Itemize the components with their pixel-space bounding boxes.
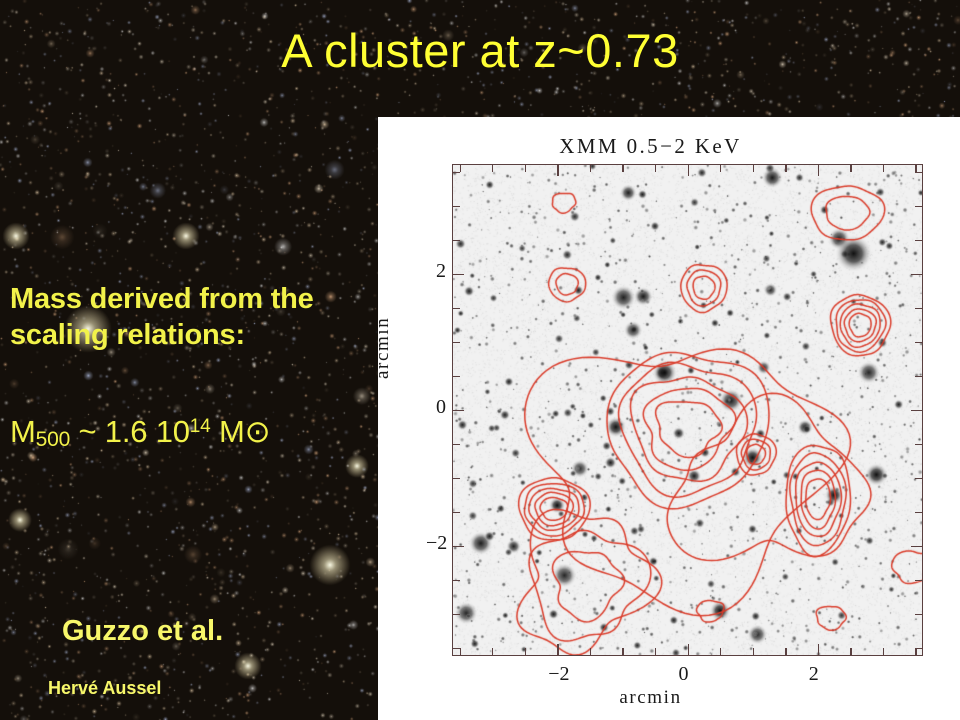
x-axis-tick-label: 0 — [679, 663, 689, 686]
x-axis-tick-top — [785, 165, 786, 172]
y-axis-tick — [453, 648, 460, 649]
x-axis-tick — [622, 648, 623, 655]
x-axis-tick-label: −2 — [548, 663, 569, 686]
citation-reference: Guzzo et al. — [62, 615, 223, 648]
x-axis-tick — [557, 644, 558, 655]
mass-exponent: 14 — [190, 416, 211, 437]
y-axis-tick — [453, 376, 460, 377]
chart-plot-area — [452, 164, 923, 656]
y-axis-tick — [453, 308, 460, 309]
y-axis-tick-label: 0 — [426, 396, 446, 419]
mass-statement-text: Mass derived from the scaling relations: — [10, 282, 370, 354]
y-axis-tick-right — [911, 546, 922, 547]
x-axis-tick-top — [720, 165, 721, 172]
x-axis-tick-top — [492, 165, 493, 172]
presentation-slide: A cluster at z~0.73 Mass derived from th… — [0, 0, 960, 720]
y-axis-tick-right — [915, 172, 922, 173]
mass-subscript: 500 — [36, 428, 70, 451]
y-axis-tick-right — [915, 308, 922, 309]
figure-panel: XMM 0.5−2 KeV arcmin arcmin −202−202 — [378, 117, 960, 720]
y-axis-tick-right — [915, 206, 922, 207]
x-axis-tick — [590, 648, 591, 655]
y-axis-tick-right — [911, 274, 922, 275]
x-axis-tick-label: 2 — [809, 663, 819, 686]
author-name: Hervé Aussel — [48, 678, 161, 699]
x-axis-tick-top — [655, 165, 656, 172]
x-axis-tick — [818, 644, 819, 655]
mass-symbol: M — [10, 414, 36, 449]
y-axis-tick — [453, 546, 464, 547]
y-axis-tick-right — [915, 444, 922, 445]
y-axis-tick-label: 2 — [426, 260, 446, 283]
x-axis-tick — [492, 648, 493, 655]
y-axis-tick-right — [915, 240, 922, 241]
x-axis-tick — [688, 644, 689, 655]
y-axis-tick — [453, 478, 460, 479]
y-axis-tick — [453, 580, 460, 581]
x-axis-tick — [785, 648, 786, 655]
y-axis-tick-right — [915, 376, 922, 377]
x-axis-tick-top — [688, 165, 689, 176]
x-axis-tick — [850, 648, 851, 655]
y-axis-tick — [453, 240, 460, 241]
y-axis-tick-right — [915, 478, 922, 479]
x-axis-tick-top — [525, 165, 526, 172]
y-axis-label: arcmin — [372, 317, 394, 379]
y-axis-tick-right — [915, 614, 922, 615]
x-axis-label: arcmin — [378, 687, 923, 709]
x-axis-tick-top — [590, 165, 591, 172]
chart-title: XMM 0.5−2 KeV — [378, 134, 923, 159]
x-axis-tick — [753, 648, 754, 655]
y-axis-tick — [453, 274, 464, 275]
y-axis-tick-right — [915, 580, 922, 581]
y-axis-tick-right — [915, 648, 922, 649]
y-axis-tick — [453, 410, 464, 411]
y-axis-tick — [453, 206, 460, 207]
x-axis-tick-top — [753, 165, 754, 172]
mass-relation: ~ 1.6 10 — [70, 414, 190, 449]
y-axis-tick — [453, 614, 460, 615]
xray-contour-canvas — [453, 165, 922, 655]
y-axis-tick — [453, 512, 460, 513]
y-axis-tick-right — [915, 342, 922, 343]
y-axis-tick — [453, 342, 460, 343]
y-axis-tick-label: −2 — [426, 532, 446, 555]
x-axis-tick-top — [818, 165, 819, 176]
x-axis-tick — [720, 648, 721, 655]
x-axis-tick-top — [883, 165, 884, 172]
y-axis-tick — [453, 172, 460, 173]
x-axis-tick-top — [557, 165, 558, 176]
mass-unit: M — [211, 414, 245, 449]
y-axis-tick — [453, 444, 460, 445]
x-axis-tick — [525, 648, 526, 655]
y-axis-tick-right — [915, 512, 922, 513]
y-axis-tick-right — [911, 410, 922, 411]
solar-mass-icon: ⊙ — [245, 414, 271, 449]
mass-equation: M500 ~ 1.6 1014 M⊙ — [10, 375, 380, 453]
x-axis-tick — [655, 648, 656, 655]
x-axis-tick-top — [622, 165, 623, 172]
x-axis-tick — [883, 648, 884, 655]
page-title: A cluster at z~0.73 — [0, 26, 960, 75]
x-axis-tick-top — [850, 165, 851, 172]
